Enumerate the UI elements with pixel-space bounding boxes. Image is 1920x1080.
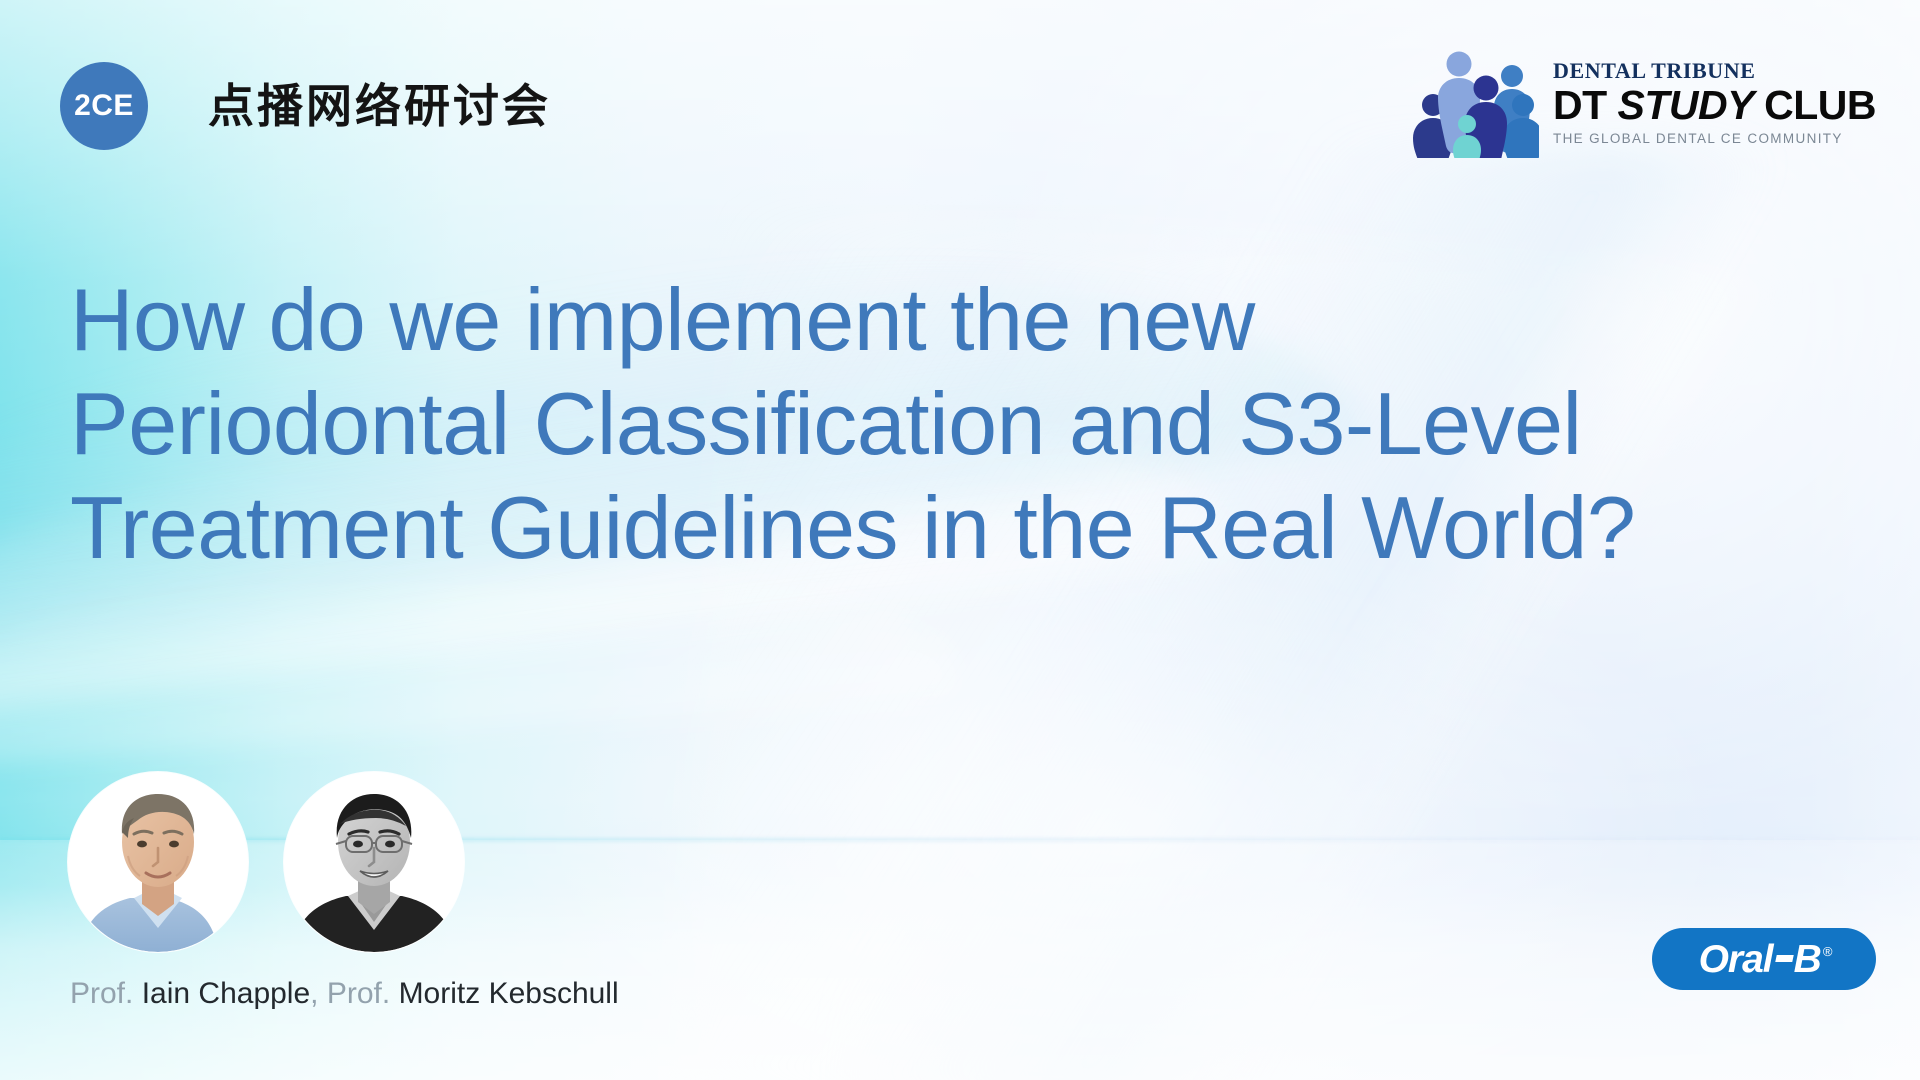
ce-credit-label: 2CE [74, 91, 134, 121]
speaker-avatar-group [68, 772, 464, 952]
brand-dt-study-club: DT STUDY CLUB [1553, 83, 1876, 127]
dt-study-club-wordmark: Dental Tribune DT STUDY CLUB THE GLOBAL … [1553, 59, 1876, 148]
speaker-name: Iain Chapple [142, 977, 310, 1010]
oral-b-wordmark: OralB® [1699, 940, 1830, 979]
title-line: Periodontal Classification and S3-Level [70, 372, 1860, 476]
avatar-photo-moritz-kebschull [284, 772, 464, 952]
speaker-name: Moritz Kebschull [399, 977, 619, 1010]
title-line: Treatment Guidelines in the Real World? [70, 476, 1860, 580]
webinar-title-slide: 2CE 点播网络研讨会 Dental Tribune DT [0, 0, 1920, 1080]
brand-dental-tribune: Dental Tribune [1553, 59, 1876, 82]
avatar [284, 772, 464, 952]
dt-study-club-people-icon [1411, 48, 1539, 158]
ce-credit-badge: 2CE [60, 62, 148, 150]
dt-study-club-logo: Dental Tribune DT STUDY CLUB THE GLOBAL … [1411, 48, 1876, 158]
brand-dt: DT [1553, 82, 1618, 128]
brand-study: STUDY [1618, 82, 1765, 128]
registered-trademark-icon: ® [1823, 945, 1832, 958]
brand-tagline: THE GLOBAL DENTAL CE COMMUNITY [1553, 131, 1876, 147]
avatar-photo-iain-chapple [68, 772, 248, 952]
webinar-type-label: 点播网络研讨会 [208, 74, 551, 138]
oral-b-logo: OralB® [1652, 928, 1876, 990]
speaker-honorific: Prof. [70, 977, 133, 1010]
speaker-honorific: Prof. [327, 977, 390, 1010]
oral-b-dash-icon [1775, 955, 1793, 962]
speaker-names: Prof. Iain Chapple, Prof. Moritz Kebschu… [70, 975, 619, 1013]
speaker-separator: , [310, 977, 318, 1010]
page-title: How do we implement the new Periodontal … [70, 268, 1860, 580]
brand-club: CLUB [1764, 82, 1876, 128]
oral-b-word-oral: Oral [1699, 940, 1773, 979]
avatar [68, 772, 248, 952]
title-line: How do we implement the new [70, 268, 1860, 372]
oral-b-word-b: B [1794, 940, 1821, 979]
